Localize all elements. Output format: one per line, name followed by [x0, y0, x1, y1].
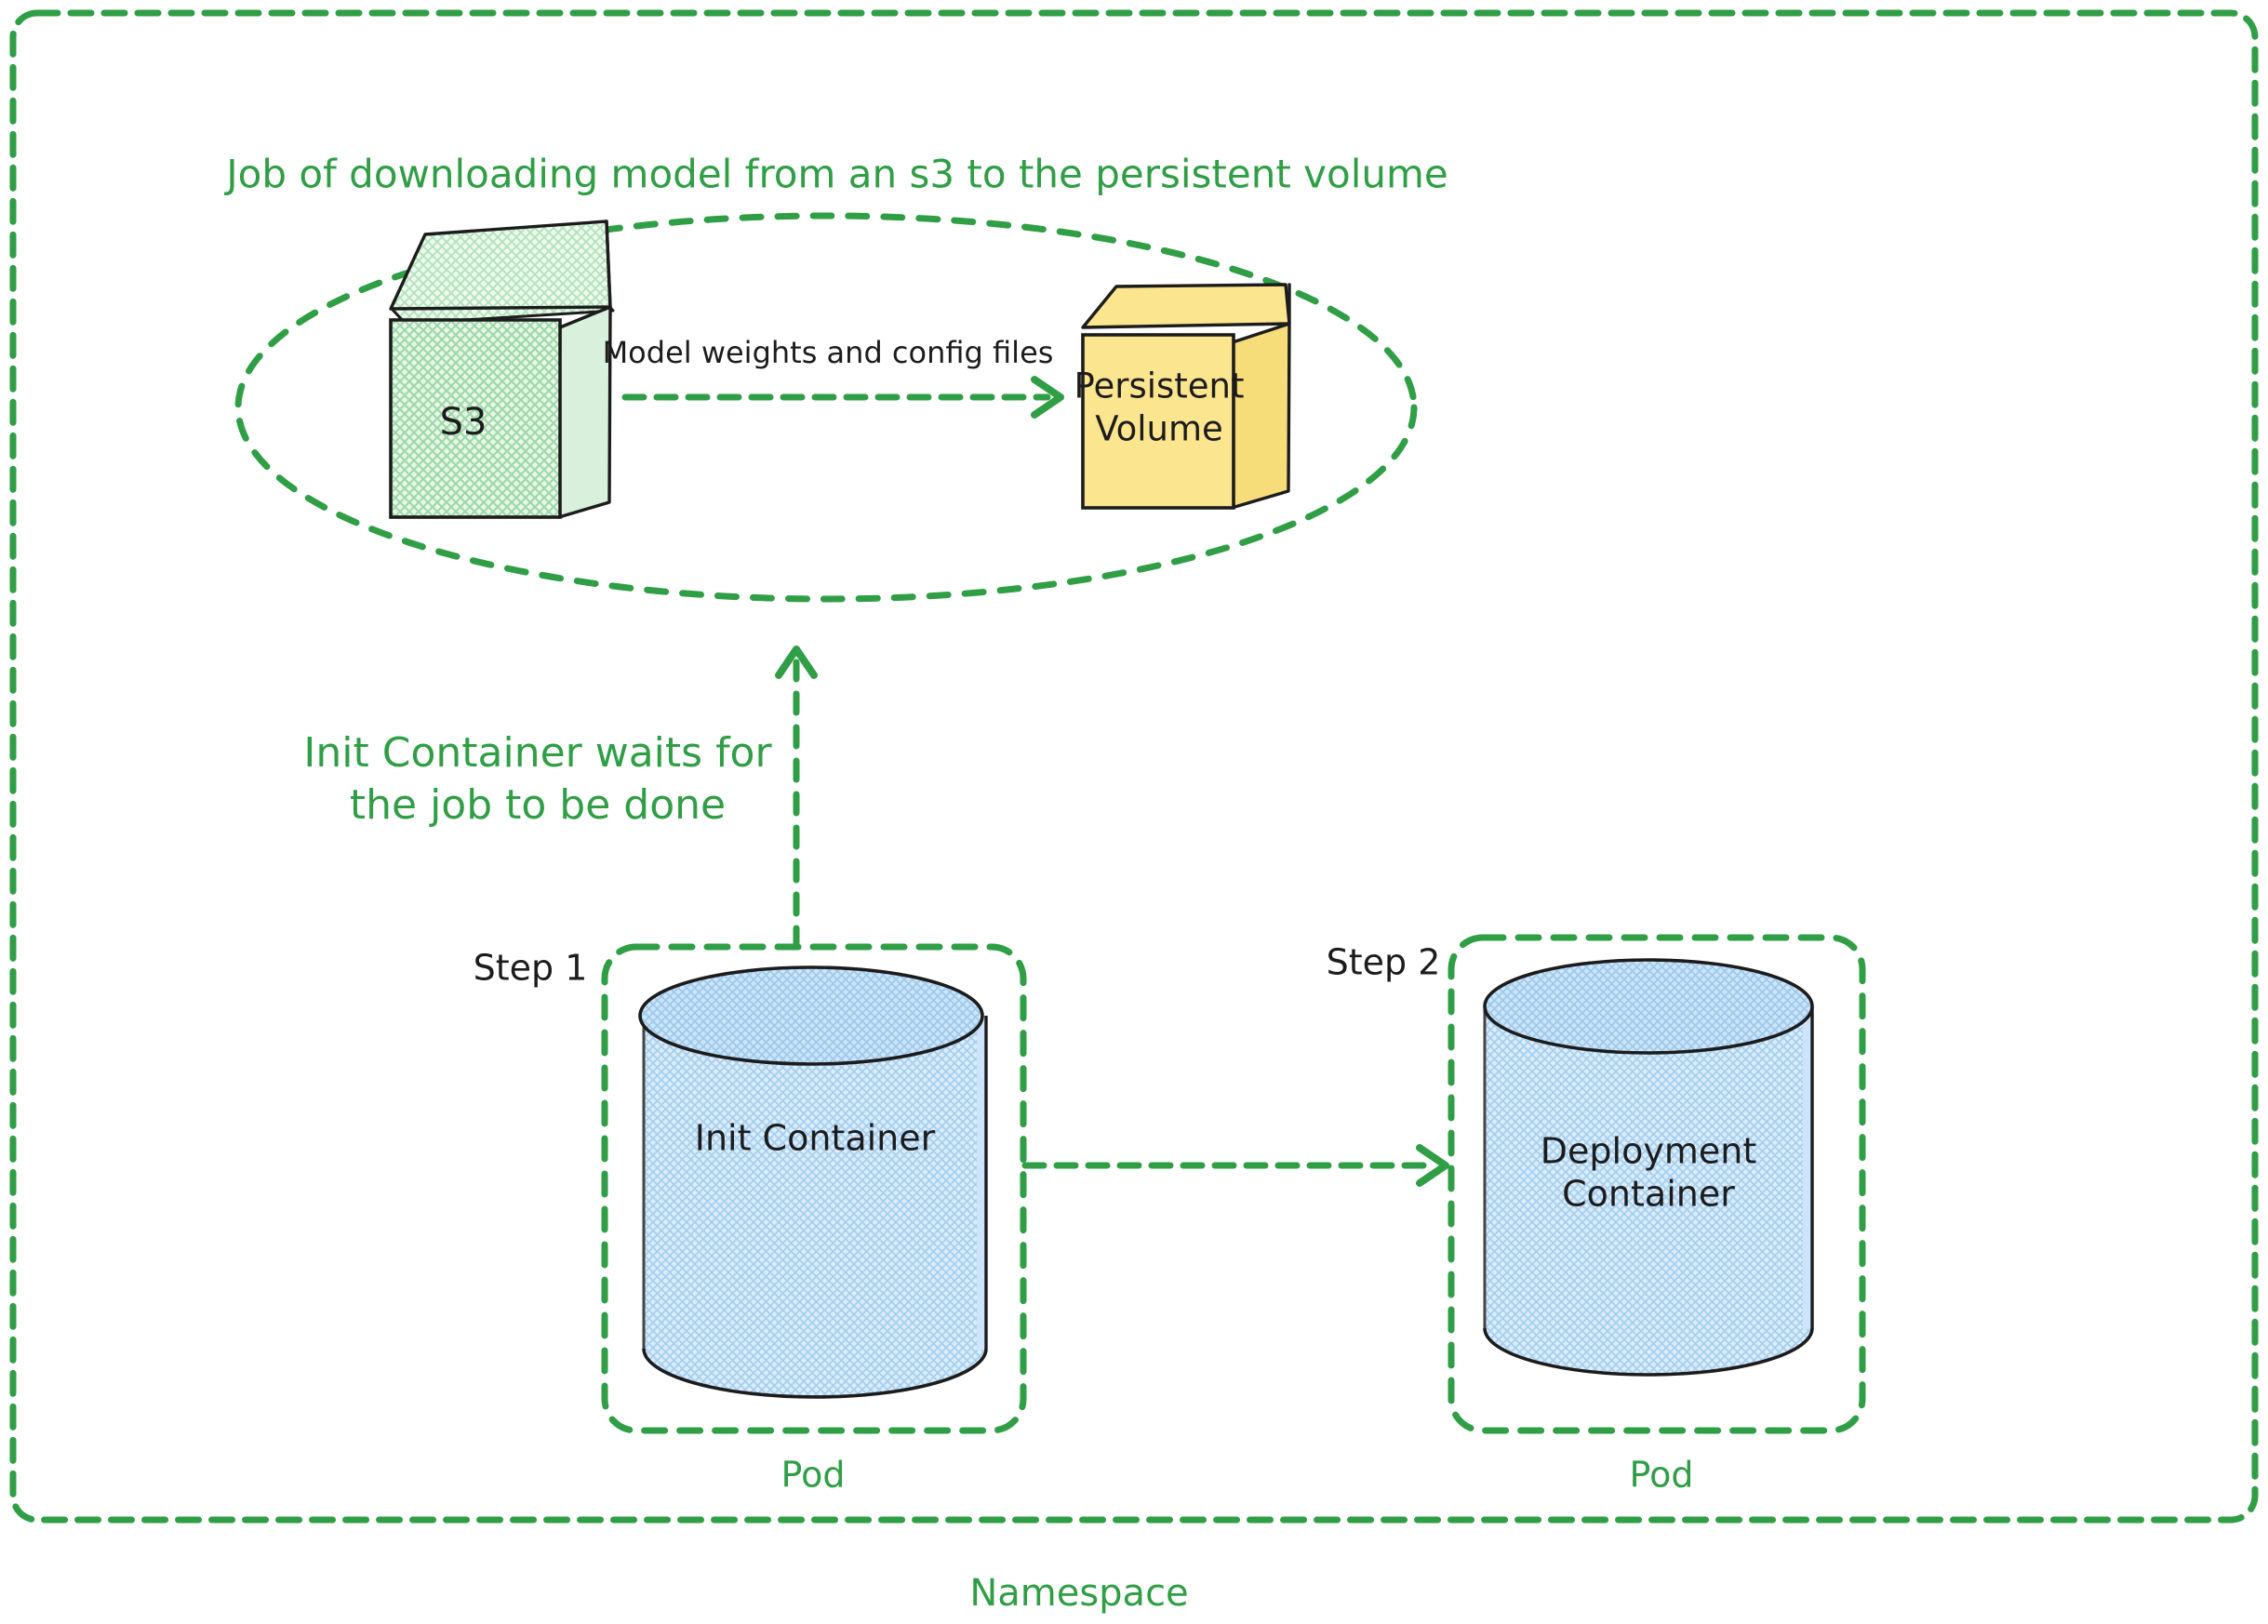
init-container-cylinder: Init Container — [640, 967, 986, 1397]
kubernetes-model-download-diagram: Namespace Job of downloading model from … — [0, 0, 2268, 1624]
deployment-container-label-line2: Container — [1562, 1174, 1735, 1215]
transfer-arrow-label: Model weights and config files — [603, 335, 1054, 370]
pod-2-label: Pod — [1630, 1455, 1694, 1496]
persistent-volume-cube: Persistent Volume — [1074, 285, 1289, 508]
job-group-title: Job of downloading model from an s3 to t… — [223, 152, 1448, 197]
s3-cube: S3 — [391, 221, 613, 517]
pv-cube-label-line1: Persistent — [1074, 366, 1244, 406]
deployment-cylinder-top-cap — [1485, 960, 1812, 1053]
deployment-container-label-line1: Deployment — [1541, 1131, 1756, 1172]
diagram-canvas: Namespace Job of downloading model from … — [0, 0, 2268, 1624]
pod-1-label: Pod — [781, 1455, 846, 1496]
pv-cube-top — [1083, 285, 1289, 327]
wait-note-line2: the job to be done — [350, 781, 726, 829]
init-container-label: Init Container — [695, 1118, 936, 1159]
init-cylinder-top-cap — [640, 967, 982, 1064]
step-2-label: Step 2 — [1327, 942, 1441, 983]
wait-note-line1: Init Container waits for — [303, 729, 772, 777]
pv-cube-label-line2: Volume — [1095, 409, 1223, 449]
namespace-label: Namespace — [969, 1572, 1188, 1615]
step-1-label: Step 1 — [474, 948, 588, 989]
init-cylinder-body — [644, 1016, 986, 1397]
s3-cube-label: S3 — [440, 401, 487, 444]
s3-cube-top — [391, 221, 610, 309]
deployment-container-cylinder: Deployment Container — [1485, 960, 1812, 1375]
